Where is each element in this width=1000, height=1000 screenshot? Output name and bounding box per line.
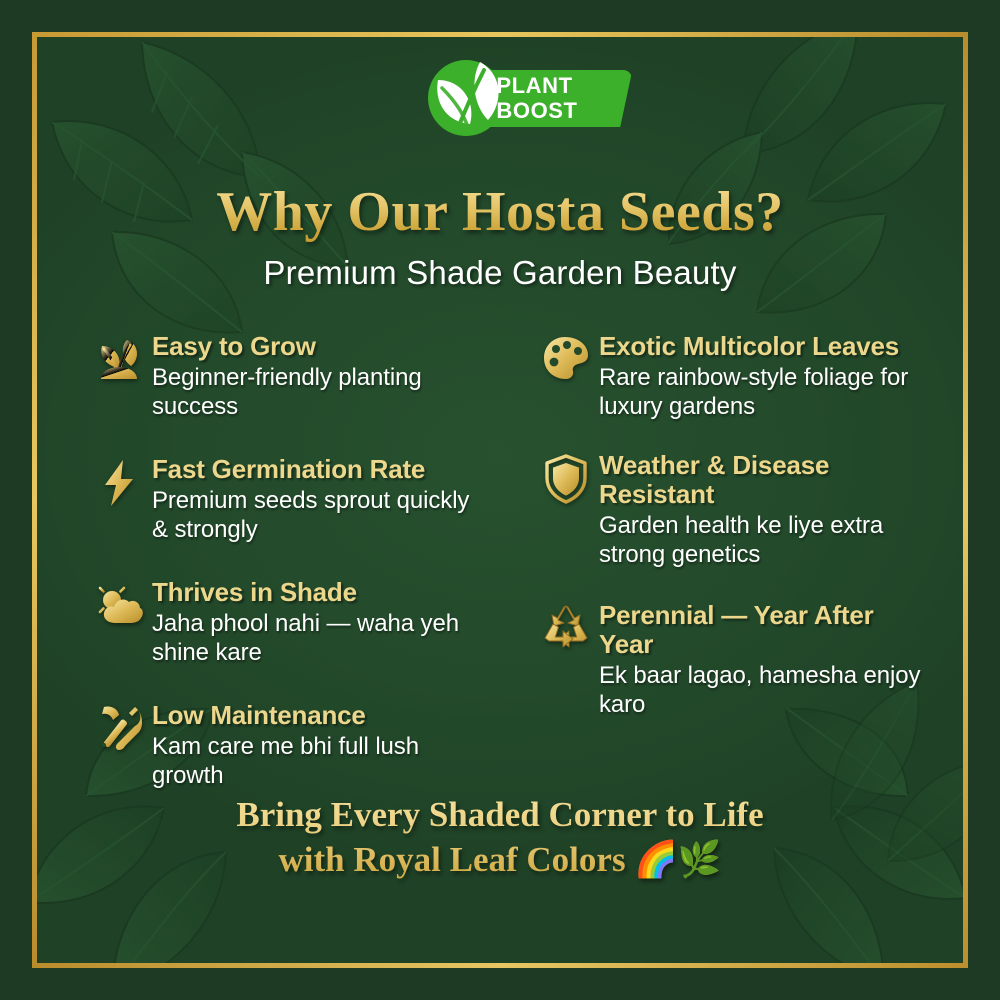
shield-icon [537,451,595,503]
artist-palette-icon [537,332,595,384]
feature-title: Easy to Grow [152,332,491,361]
rainbow-icon: 🌈 [634,840,678,879]
feature-title: Thrives in Shade [152,578,491,607]
feature-item-perennial-year-after-year: Perennial — Year After Year Ek baar laga… [537,601,928,719]
feature-title: Weather & Disease Resistant [599,451,928,509]
feature-item-weather-disease-resistant: Weather & Disease Resistant Garden healt… [537,451,928,569]
hammer-and-wrench-icon [90,701,148,753]
feature-title: Perennial — Year After Year [599,601,928,659]
brand-logo: PLANT BOOST [32,58,968,136]
page-title: Why Our Hosta Seeds? [32,180,968,244]
feature-item-exotic-multicolor-leaves: Exotic Multicolor Leaves Rare rainbow-st… [537,332,928,421]
feature-description: Garden health ke liye extra strong genet… [599,511,928,569]
feature-title: Low Maintenance [152,701,491,730]
feature-column-left: Easy to Grow Beginner-friendly planting … [90,332,509,816]
seedling-icon [90,332,148,384]
footer-line-1: Bring Every Shaded Corner to Life [32,792,968,837]
feature-text: Perennial — Year After Year Ek baar laga… [595,601,928,719]
feature-description: Kam care me bhi full lush growth [152,732,491,790]
recycle-icon [537,601,595,653]
feature-item-low-maintenance: Low Maintenance Kam care me bhi full lus… [90,701,491,790]
feature-text: Thrives in Shade Jaha phool nahi — waha … [148,578,491,667]
feature-item-fast-germination-rate: Fast Germination Rate Premium seeds spro… [90,455,491,544]
feature-column-right: Exotic Multicolor Leaves Rare rainbow-st… [509,332,928,816]
sun-behind-cloud-icon [90,578,148,630]
feature-title: Exotic Multicolor Leaves [599,332,928,361]
footer-line-2: with Royal Leaf Colors [279,840,626,879]
page-subtitle: Premium Shade Garden Beauty [32,254,968,292]
lightning-bolt-icon [90,455,148,507]
feature-text: Fast Germination Rate Premium seeds spro… [148,455,491,544]
feature-description: Beginner-friendly planting success [152,363,491,421]
herb-leaf-icon: 🌿 [678,840,722,879]
feature-grid: Easy to Grow Beginner-friendly planting … [90,332,928,816]
feature-description: Ek baar lagao, hamesha enjoy karo [599,661,928,719]
feature-description: Jaha phool nahi — waha yeh shine kare [152,609,491,667]
logo-word-line1: PLANT [496,73,577,98]
feature-text: Exotic Multicolor Leaves Rare rainbow-st… [595,332,928,421]
footer-line-2-wrap: with Royal Leaf Colors 🌈🌿 [32,837,968,882]
feature-item-easy-to-grow: Easy to Grow Beginner-friendly planting … [90,332,491,421]
feature-item-thrives-in-shade: Thrives in Shade Jaha phool nahi — waha … [90,578,491,667]
logo-wordmark: PLANT BOOST [496,71,577,123]
feature-description: Rare rainbow-style foliage for luxury ga… [599,363,928,421]
feature-title: Fast Germination Rate [152,455,491,484]
footer-tagline: Bring Every Shaded Corner to Life with R… [32,792,968,882]
poster-canvas: PLANT BOOST Why Our Hosta Seeds? Premium… [0,0,1000,1000]
feature-text: Low Maintenance Kam care me bhi full lus… [148,701,491,790]
poster-inner-panel: PLANT BOOST Why Our Hosta Seeds? Premium… [32,32,968,968]
feature-description: Premium seeds sprout quickly & strongly [152,486,491,544]
logo-word-line2: BOOST [496,98,577,123]
feature-text: Weather & Disease Resistant Garden healt… [595,451,928,569]
feature-text: Easy to Grow Beginner-friendly planting … [148,332,491,421]
